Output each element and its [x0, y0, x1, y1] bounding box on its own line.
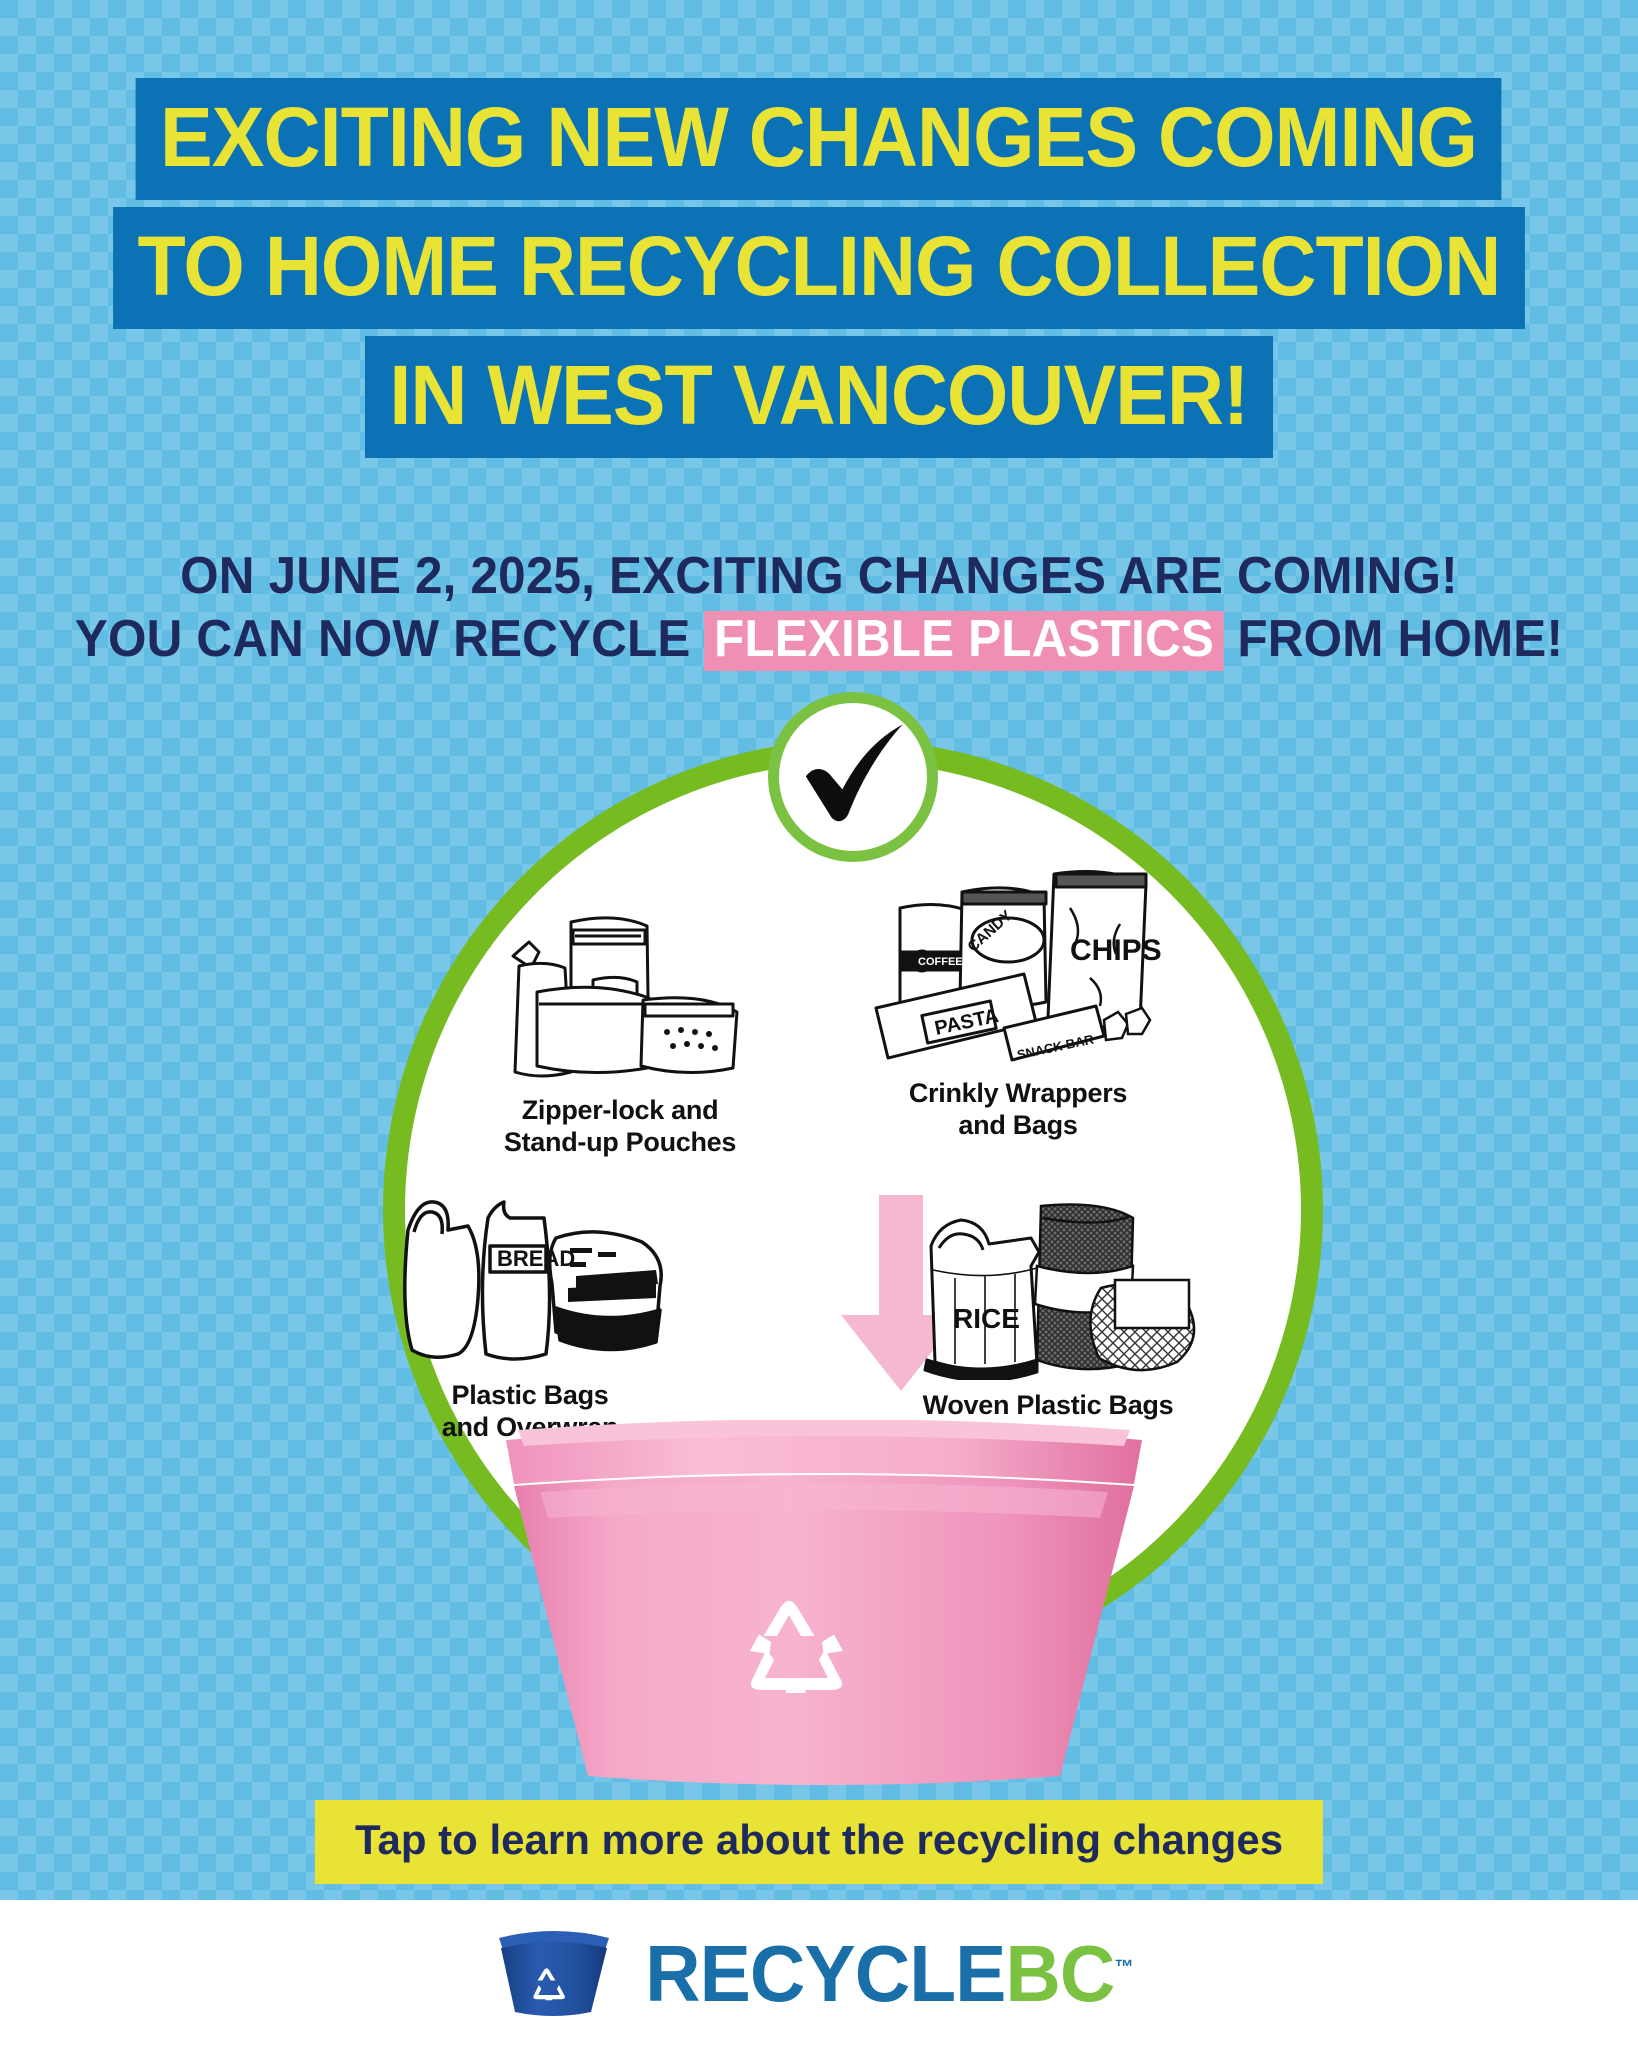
category-woven-plastic-bags: RICE Woven Plastic Bags [883, 1190, 1213, 1422]
wrappers-icon: COFFEE CANDY CHIPS PASTA SNACK BAR [853, 878, 1183, 1068]
pouches-icon [455, 895, 785, 1085]
subhead-line-1: ON JUNE 2, 2025, EXCITING CHANGES ARE CO… [41, 545, 1597, 608]
category-plastic-bags-and-overwrap: BREAD Plastic Bags and Overwrap [365, 1180, 695, 1444]
headline-line-3: IN WEST VANCOUVER! [365, 336, 1273, 458]
footer-logo-bar: RECYCLEBC™ [0, 1900, 1638, 2048]
caption-line-1: Zipper-lock and [522, 1095, 719, 1125]
logo-word-bc: BC [1006, 1929, 1115, 2018]
subhead-block: ON JUNE 2, 2025, EXCITING CHANGES ARE CO… [0, 545, 1638, 672]
headline-line-2: TO HOME RECYCLING COLLECTION [113, 207, 1525, 329]
recycle-bc-wordmark: RECYCLEBC™ [645, 1934, 1133, 2014]
caption-line-1: Woven Plastic Bags [923, 1390, 1174, 1420]
logo-word-recycle: RECYCLE [645, 1929, 1005, 2018]
category-crinkly-wrappers-and-bags: COFFEE CANDY CHIPS PASTA SNACK BAR Crink… [853, 878, 1183, 1142]
blue-recycling-bin-icon [495, 1924, 613, 2025]
flexible-plastics-highlight: FLEXIBLE PLASTICS [704, 611, 1223, 671]
plastic-bags-icon: BREAD [365, 1180, 695, 1370]
poster-canvas: EXCITING NEW CHANGES COMING TO HOME RECY… [0, 0, 1638, 1900]
label-chips: CHIPS [1070, 934, 1162, 967]
trademark-symbol: ™ [1115, 1956, 1133, 1978]
cta-label: Tap to learn more about the recycling ch… [355, 1816, 1283, 1863]
category-caption: Crinkly Wrappers and Bags [853, 1078, 1183, 1142]
category-zipper-lock-and-stand-up-pouches: Zipper-lock and Stand-up Pouches [455, 895, 785, 1159]
caption-line-2: and Bags [958, 1110, 1077, 1140]
learn-more-button[interactable]: Tap to learn more about the recycling ch… [315, 1800, 1323, 1884]
label-coffee: COFFEE [918, 956, 963, 968]
subhead-line2-after: FROM HOME! [1223, 610, 1563, 668]
category-caption: Zipper-lock and Stand-up Pouches [455, 1095, 785, 1159]
caption-line-2: Stand-up Pouches [504, 1127, 736, 1157]
caption-line-1: Plastic Bags [452, 1380, 609, 1410]
headline-block: EXCITING NEW CHANGES COMING TO HOME RECY… [0, 78, 1638, 458]
headline-line-1: EXCITING NEW CHANGES COMING [136, 78, 1502, 200]
label-rice: RICE [953, 1303, 1020, 1334]
label-bread: BREAD [497, 1246, 575, 1271]
caption-line-1: Crinkly Wrappers [909, 1078, 1127, 1108]
subhead-line-2: YOU CAN NOW RECYCLE FLEXIBLE PLASTICS FR… [41, 608, 1597, 671]
checkmark-icon [768, 692, 938, 862]
woven-bags-icon: RICE [883, 1190, 1213, 1380]
subhead-line2-before: YOU CAN NOW RECYCLE [75, 610, 705, 668]
recycling-bin-icon [500, 1420, 1148, 1800]
category-caption: Woven Plastic Bags [883, 1390, 1213, 1422]
